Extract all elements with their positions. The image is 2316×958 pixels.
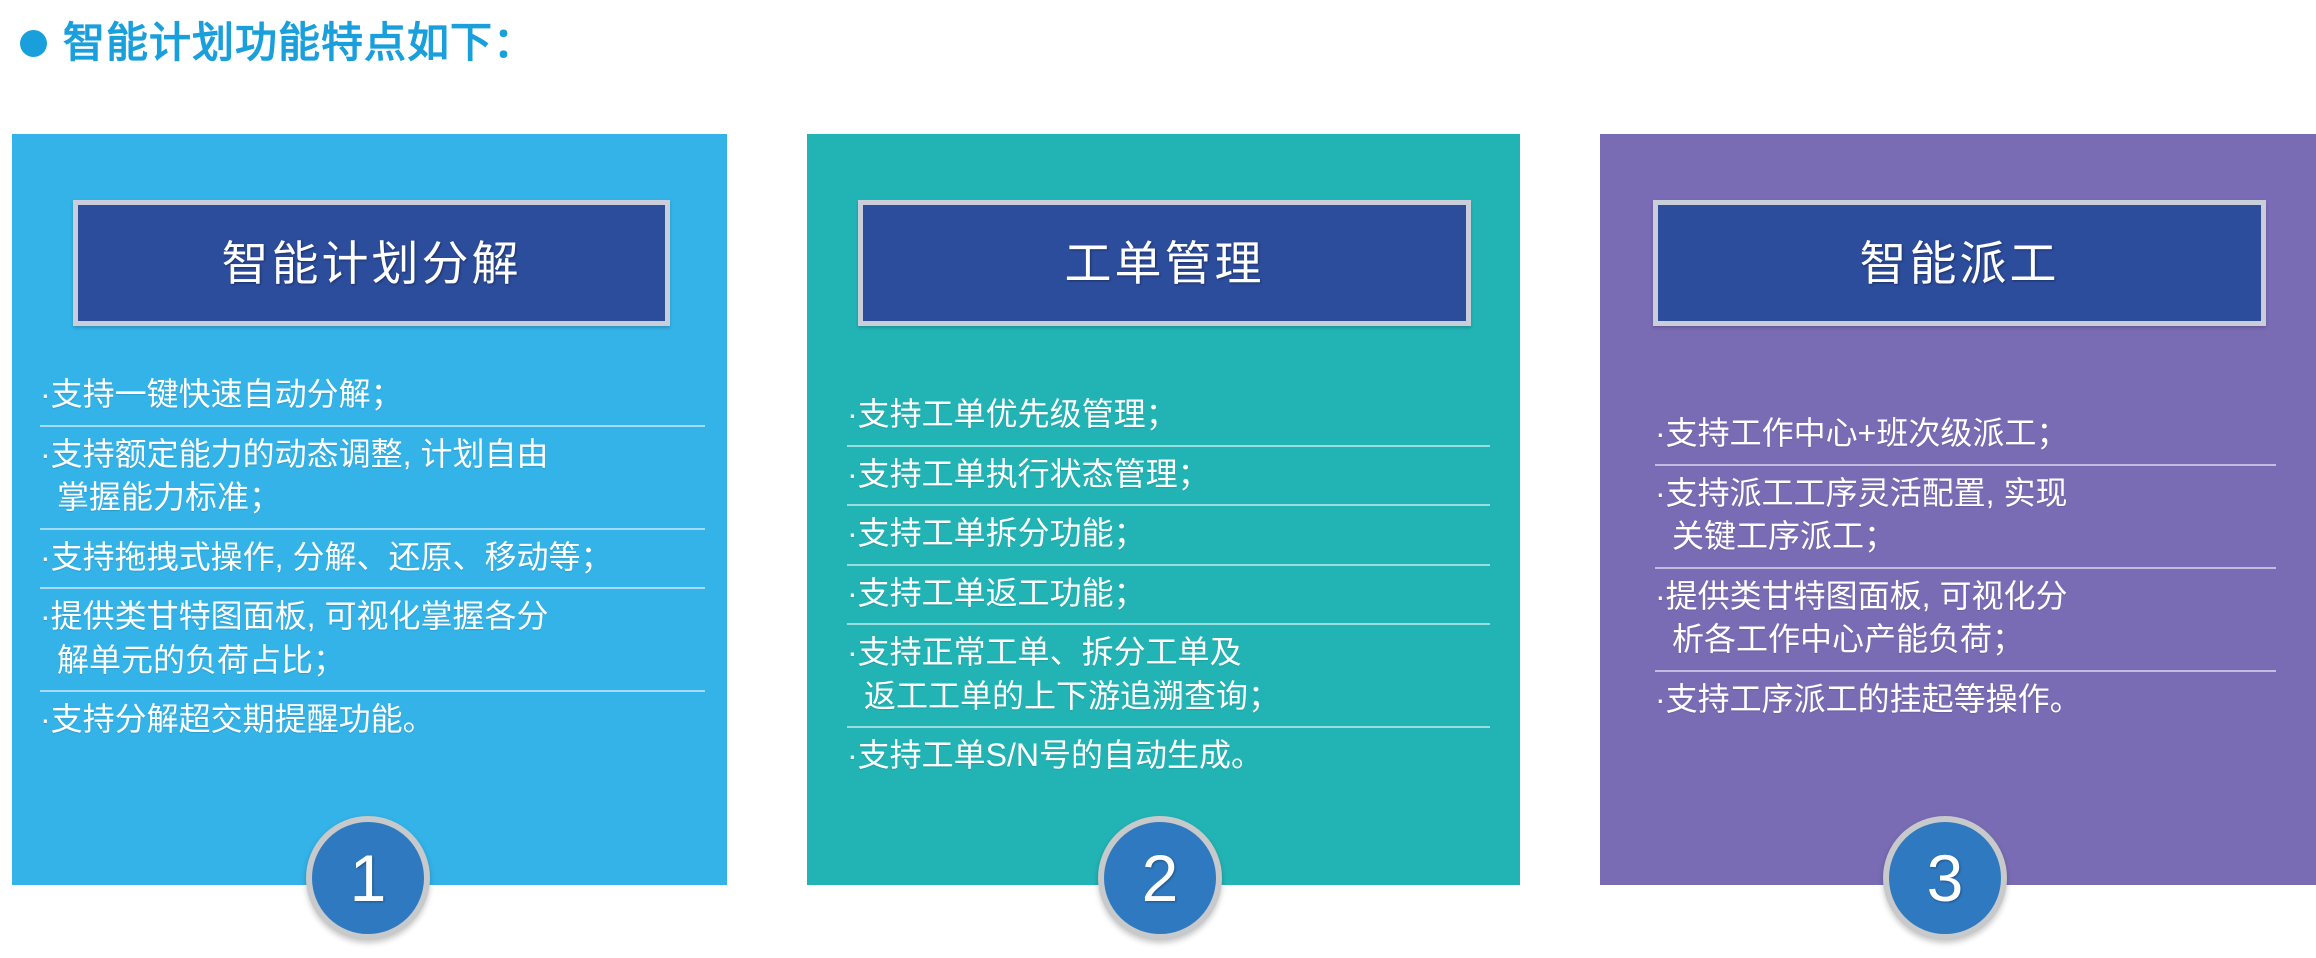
card-1-banner-title: 智能计划分解 xyxy=(222,240,522,287)
card-3-banner-title: 智能派工 xyxy=(1860,240,2060,287)
step-badge-1-number: 1 xyxy=(350,845,387,911)
list-item: ·支持工序派工的挂起等操作。 xyxy=(1655,670,2276,730)
card-2-banner: 工单管理 xyxy=(858,200,1471,326)
page-title: 智能计划功能特点如下： xyxy=(63,22,536,64)
list-item: ·支持工单拆分功能； xyxy=(847,504,1490,564)
step-badge-2-number: 2 xyxy=(1142,845,1179,911)
card-1-banner: 智能计划分解 xyxy=(73,200,670,326)
list-item: ·支持拖拽式操作, 分解、还原、移动等； xyxy=(40,528,705,588)
list-item: ·提供类甘特图面板, 可视化分 析各工作中心产能负荷； xyxy=(1655,567,2276,670)
feature-card-1: 智能计划分解 ·支持一键快速自动分解； ·支持额定能力的动态调整, 计划自由 掌… xyxy=(12,134,727,885)
list-item: ·支持工作中心+班次级派工； xyxy=(1655,406,2276,464)
list-item: ·支持派工工序灵活配置, 实现 关键工序派工； xyxy=(1655,464,2276,567)
step-badge-1: 1 xyxy=(306,816,430,940)
list-item: ·支持正常工单、拆分工单及 返工工单的上下游追溯查询； xyxy=(847,623,1490,726)
card-3-banner: 智能派工 xyxy=(1653,200,2266,326)
list-item: ·支持工单返工功能； xyxy=(847,564,1490,624)
page-title-row: 智能计划功能特点如下： xyxy=(0,0,2316,86)
card-2-feature-list: ·支持工单优先级管理； ·支持工单执行状态管理； ·支持工单拆分功能； ·支持工… xyxy=(807,387,1520,786)
list-item: ·支持工单优先级管理； xyxy=(847,387,1490,445)
card-3-feature-list: ·支持工作中心+班次级派工； ·支持派工工序灵活配置, 实现 关键工序派工； ·… xyxy=(1600,406,2316,729)
step-badge-3-number: 3 xyxy=(1927,845,1964,911)
list-item: ·支持分解超交期提醒功能。 xyxy=(40,690,705,750)
list-item: ·支持额定能力的动态调整, 计划自由 掌握能力标准； xyxy=(40,425,705,528)
card-1-feature-list: ·支持一键快速自动分解； ·支持额定能力的动态调整, 计划自由 掌握能力标准； … xyxy=(12,367,727,750)
list-item: ·支持工单S/N号的自动生成。 xyxy=(847,726,1490,786)
feature-card-3: 智能派工 ·支持工作中心+班次级派工； ·支持派工工序灵活配置, 实现 关键工序… xyxy=(1600,134,2316,885)
card-2-banner-title: 工单管理 xyxy=(1065,240,1265,287)
step-badge-2: 2 xyxy=(1098,816,1222,940)
feature-card-2: 工单管理 ·支持工单优先级管理； ·支持工单执行状态管理； ·支持工单拆分功能；… xyxy=(807,134,1520,885)
step-badge-3: 3 xyxy=(1883,816,2007,940)
bullet-dot-icon xyxy=(20,30,47,57)
list-item: ·支持工单执行状态管理； xyxy=(847,445,1490,505)
list-item: ·支持一键快速自动分解； xyxy=(40,367,705,425)
list-item: ·提供类甘特图面板, 可视化掌握各分 解单元的负荷占比； xyxy=(40,587,705,690)
